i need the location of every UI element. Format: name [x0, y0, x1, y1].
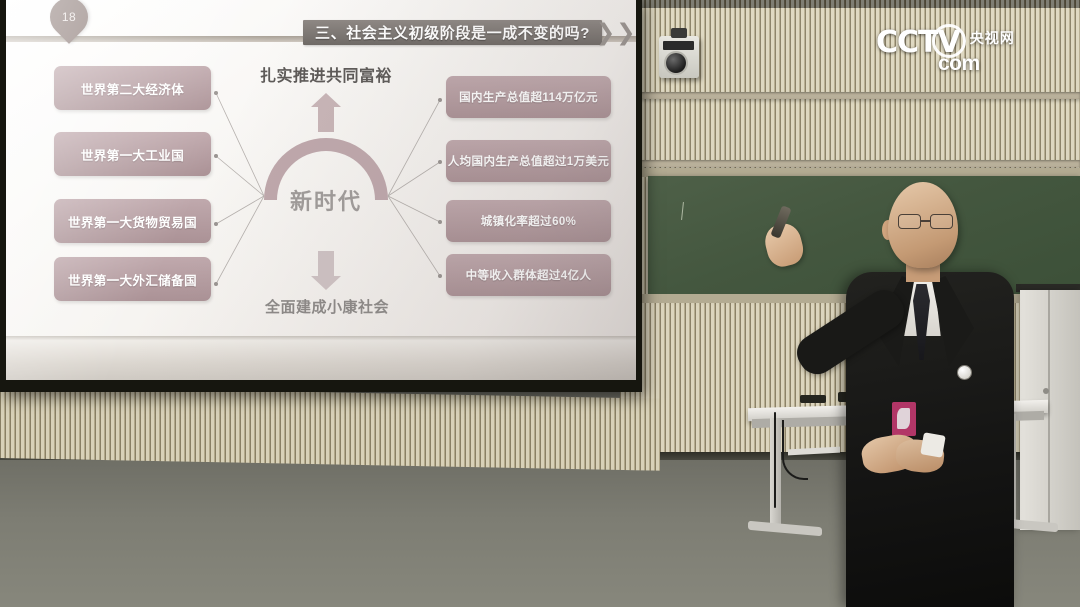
lower-wall-panel-left — [0, 386, 660, 471]
left-box-1: 世界第一大工业国 — [54, 132, 211, 176]
right-box-0: 国内生产总值超114万亿元 — [446, 76, 611, 118]
left-box-0: 世界第二大经济体 — [54, 66, 211, 110]
glasses-lens-right — [930, 214, 953, 229]
projection-screen-frame: 18 三、社会主义初级阶段是一成不变的吗? ❯ ❯ — [0, 0, 642, 392]
right-box-2: 城镇化率超过60% — [446, 200, 611, 242]
presenter-cuff-lower — [920, 432, 945, 457]
projection-screen: 18 三、社会主义初级阶段是一成不变的吗? ❯ ❯ — [6, 0, 636, 380]
wall-slat-texture-lower-left — [0, 386, 660, 471]
wall-rail-mid — [640, 160, 1080, 167]
right-box-1: 人均国内生产总值超过1万美元 — [446, 140, 611, 182]
glasses-lens-left — [898, 214, 921, 229]
camera-lens-icon — [666, 53, 686, 73]
slide-center-top-label: 扎实推进共同富裕 — [246, 62, 406, 86]
glasses-bridge — [921, 220, 930, 222]
screen-bottom-band — [6, 336, 636, 380]
presenter — [770, 168, 1030, 607]
cctv-logo: CCTV 央视网 com — [876, 28, 1015, 58]
right-box-3: 中等收入群体超过4亿人 — [446, 254, 611, 296]
glasses-icon — [898, 214, 958, 229]
camera-display — [663, 41, 694, 50]
cctv-domain-label: com — [938, 52, 980, 76]
jacket-sticker — [892, 402, 916, 436]
cabinet-knob-icon[interactable] — [1043, 388, 1049, 394]
presentation-slide: 18 三、社会主义初级阶段是一成不变的吗? ❯ ❯ — [6, 0, 636, 336]
wall-rail-upper — [640, 92, 1080, 99]
camera-mount — [671, 28, 687, 38]
video-frame: 共同富裕 初级阶段 矛盾 →不变的矛盾 变化 18 三、社会主义初级阶段是一成不… — [0, 0, 1080, 607]
arrow-up-icon — [318, 106, 334, 132]
wall-camera-icon — [659, 36, 699, 78]
cctv-cn-label: 央视网 — [970, 28, 1015, 48]
arrow-down-icon — [318, 251, 334, 277]
presenter-lapel-pin-icon — [958, 366, 971, 379]
slide-arch-label: 新时代 — [259, 184, 393, 216]
slide-center-bottom-label: 全面建成小康社会 — [244, 296, 410, 317]
left-box-2: 世界第一大货物贸易国 — [54, 199, 211, 243]
left-box-3: 世界第一大外汇储备国 — [54, 257, 211, 301]
